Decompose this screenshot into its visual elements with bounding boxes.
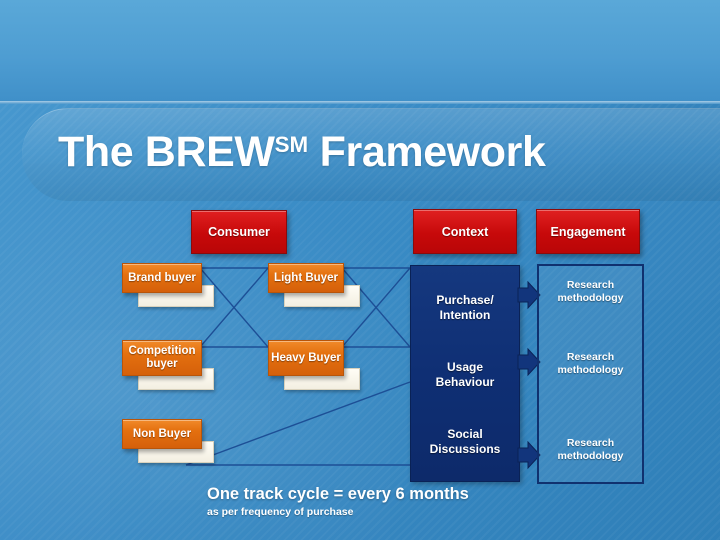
column-header-engagement-label: Engagement xyxy=(550,225,625,239)
engagement-row-3: Research methodology xyxy=(539,437,642,463)
engagement-row-2-line1: Research xyxy=(539,351,642,364)
context-row-usage-behaviour: Usage Behaviour xyxy=(411,360,519,389)
consumer-box-non-buyer[interactable]: Non Buyer xyxy=(122,419,202,449)
header-band-separator xyxy=(0,101,720,104)
column-header-context-label: Context xyxy=(442,225,489,239)
context-row-social-discussions-line2: Discussions xyxy=(411,442,519,457)
page-title: The BREWSM Framework xyxy=(58,128,546,177)
context-row-usage-behaviour-line1: Usage xyxy=(411,360,519,375)
consumer-box-heavy-buyer-group: Heavy Buyer xyxy=(268,340,368,400)
context-row-social-discussions-line1: Social xyxy=(411,427,519,442)
engagement-row-1-line2: methodology xyxy=(539,292,642,305)
header-band-background xyxy=(0,0,720,104)
footer-headline: One track cycle = every 6 months xyxy=(207,485,469,504)
engagement-row-2-line2: methodology xyxy=(539,364,642,377)
column-header-context[interactable]: Context xyxy=(413,209,517,254)
column-header-consumer-label: Consumer xyxy=(208,225,270,239)
consumer-box-brand-buyer-group: Brand buyer xyxy=(122,263,222,315)
engagement-row-2: Research methodology xyxy=(539,351,642,377)
title-suffix: Framework xyxy=(308,128,545,176)
consumer-box-competition-buyer[interactable]: Competition buyer xyxy=(122,340,202,376)
consumer-box-light-buyer-group: Light Buyer xyxy=(268,263,368,315)
title-superscript: SM xyxy=(275,132,309,157)
context-row-social-discussions: Social Discussions xyxy=(411,427,519,456)
consumer-box-non-buyer-group: Non Buyer xyxy=(122,419,222,471)
column-header-engagement[interactable]: Engagement xyxy=(536,209,640,254)
slide-canvas: The BREWSM Framework Consumer Context En… xyxy=(0,0,720,540)
consumer-box-heavy-buyer[interactable]: Heavy Buyer xyxy=(268,340,344,376)
consumer-box-light-buyer[interactable]: Light Buyer xyxy=(268,263,344,293)
engagement-row-3-line1: Research xyxy=(539,437,642,450)
consumer-box-brand-buyer[interactable]: Brand buyer xyxy=(122,263,202,293)
engagement-panel[interactable]: Research methodology Research methodolog… xyxy=(537,264,644,484)
column-header-consumer[interactable]: Consumer xyxy=(191,210,287,254)
consumer-box-competition-buyer-label: Competition buyer xyxy=(123,345,201,371)
engagement-row-1: Research methodology xyxy=(539,279,642,305)
context-panel[interactable]: Purchase/ Intention Usage Behaviour Soci… xyxy=(410,265,520,482)
consumer-box-heavy-buyer-label: Heavy Buyer xyxy=(271,352,341,365)
engagement-row-3-line2: methodology xyxy=(539,450,642,463)
consumer-box-competition-buyer-group: Competition buyer xyxy=(122,340,222,400)
context-row-purchase-intention: Purchase/ Intention xyxy=(411,293,519,322)
context-row-purchase-intention-line1: Purchase/ xyxy=(411,293,519,308)
engagement-row-1-line1: Research xyxy=(539,279,642,292)
consumer-box-brand-buyer-label: Brand buyer xyxy=(128,272,196,285)
context-row-purchase-intention-line2: Intention xyxy=(411,308,519,323)
decorative-header-band xyxy=(0,0,720,104)
consumer-box-non-buyer-label: Non Buyer xyxy=(133,428,191,441)
footer-subtext: as per frequency of purchase xyxy=(207,506,353,518)
title-prefix: The BREW xyxy=(58,128,275,176)
context-row-usage-behaviour-line2: Behaviour xyxy=(411,375,519,390)
consumer-box-light-buyer-label: Light Buyer xyxy=(274,272,338,285)
